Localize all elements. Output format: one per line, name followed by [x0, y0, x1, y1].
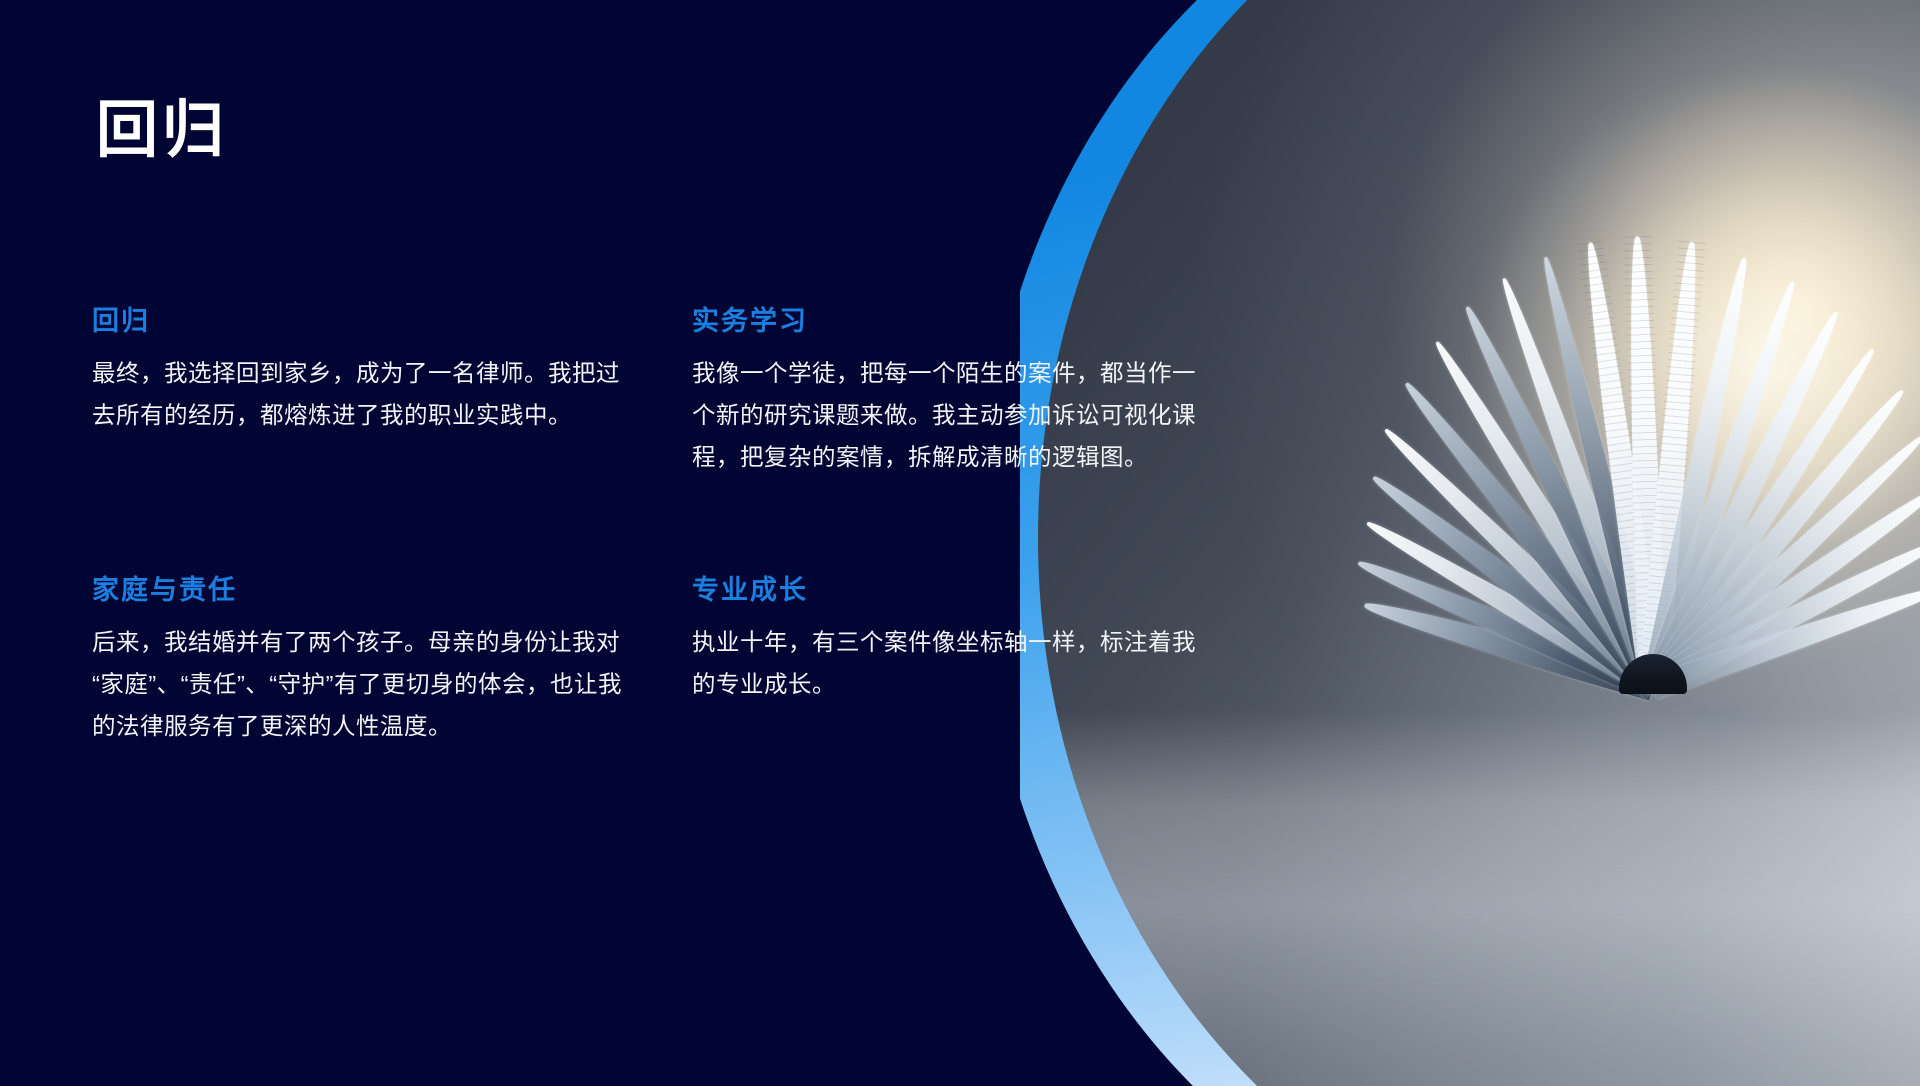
content-grid: 回归 最终，我选择回到家乡，成为了一名律师。我把过去所有的经历，都熔炼进了我的职… — [92, 305, 1222, 748]
block-heading: 回归 — [92, 305, 692, 337]
content-block-1: 回归 最终，我选择回到家乡，成为了一名律师。我把过去所有的经历，都熔炼进了我的职… — [92, 305, 692, 479]
page-text-lines — [1623, 236, 1667, 689]
block-body: 执业十年，有三个案件像坐标轴一样，标注着我的专业成长。 — [692, 622, 1212, 706]
block-body: 最终，我选择回到家乡，成为了一名律师。我把过去所有的经历，都熔炼进了我的职业实践… — [92, 353, 622, 437]
block-body: 我像一个学徒，把每一个陌生的案件，都当作一个新的研究课题来做。我主动参加诉讼可视… — [692, 353, 1212, 478]
content-block-2: 实务学习 我像一个学徒，把每一个陌生的案件，都当作一个新的研究课题来做。我主动参… — [692, 305, 1222, 479]
content-block-3: 家庭与责任 后来，我结婚并有了两个孩子。母亲的身份让我对“家庭”、“责任”、“守… — [92, 574, 692, 748]
backlight-glow — [1481, 80, 1920, 653]
table-surface — [1038, 710, 1920, 1086]
slide-canvas: 回归 回归 最终，我选择回到家乡，成为了一名律师。我把过去所有的经历，都熔炼进了… — [0, 0, 1920, 1086]
block-body: 后来，我结婚并有了两个孩子。母亲的身份让我对“家庭”、“责任”、“守护”有了更切… — [92, 622, 622, 747]
page-text-lines — [1577, 241, 1665, 690]
block-heading: 家庭与责任 — [92, 574, 692, 606]
book-spine — [1619, 654, 1687, 694]
page-text-lines — [1639, 241, 1706, 690]
page-title: 回归 — [96, 100, 228, 162]
block-heading: 专业成长 — [692, 574, 1222, 606]
content-block-4: 专业成长 执业十年，有三个案件像坐标轴一样，标注着我的专业成长。 — [692, 574, 1222, 748]
block-heading: 实务学习 — [692, 305, 1222, 337]
